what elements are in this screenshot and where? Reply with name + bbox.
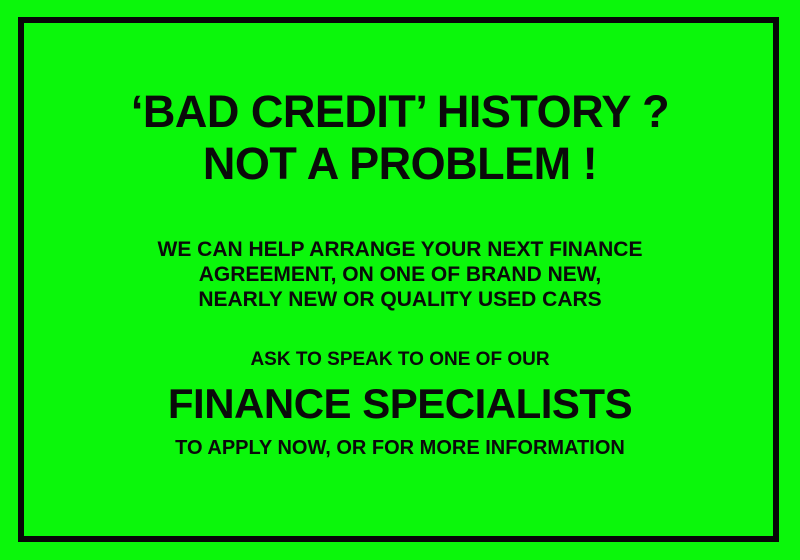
headline-line-1: ‘BAD CREDIT’ HISTORY ? xyxy=(40,86,760,137)
call-to-action-block: ASK TO SPEAK TO ONE OF OUR FINANCE SPECI… xyxy=(40,348,760,460)
headline-line-2: NOT A PROBLEM ! xyxy=(40,137,760,191)
poster-content: ‘BAD CREDIT’ HISTORY ? NOT A PROBLEM ! W… xyxy=(0,0,800,560)
cta-title: FINANCE SPECIALISTS xyxy=(40,378,760,430)
body-line-2: AGREEMENT, ON ONE OF BRAND NEW, xyxy=(40,262,760,287)
cta-prompt: ASK TO SPEAK TO ONE OF OUR xyxy=(40,348,760,371)
cta-footer: TO APPLY NOW, OR FOR MORE INFORMATION xyxy=(40,436,760,460)
advertisement-poster: ‘BAD CREDIT’ HISTORY ? NOT A PROBLEM ! W… xyxy=(0,0,800,560)
headline-block: ‘BAD CREDIT’ HISTORY ? NOT A PROBLEM ! xyxy=(40,86,760,191)
body-line-1: WE CAN HELP ARRANGE YOUR NEXT FINANCE xyxy=(40,237,760,262)
body-line-3: NEARLY NEW OR QUALITY USED CARS xyxy=(40,287,760,312)
body-text-block: WE CAN HELP ARRANGE YOUR NEXT FINANCE AG… xyxy=(40,237,760,312)
